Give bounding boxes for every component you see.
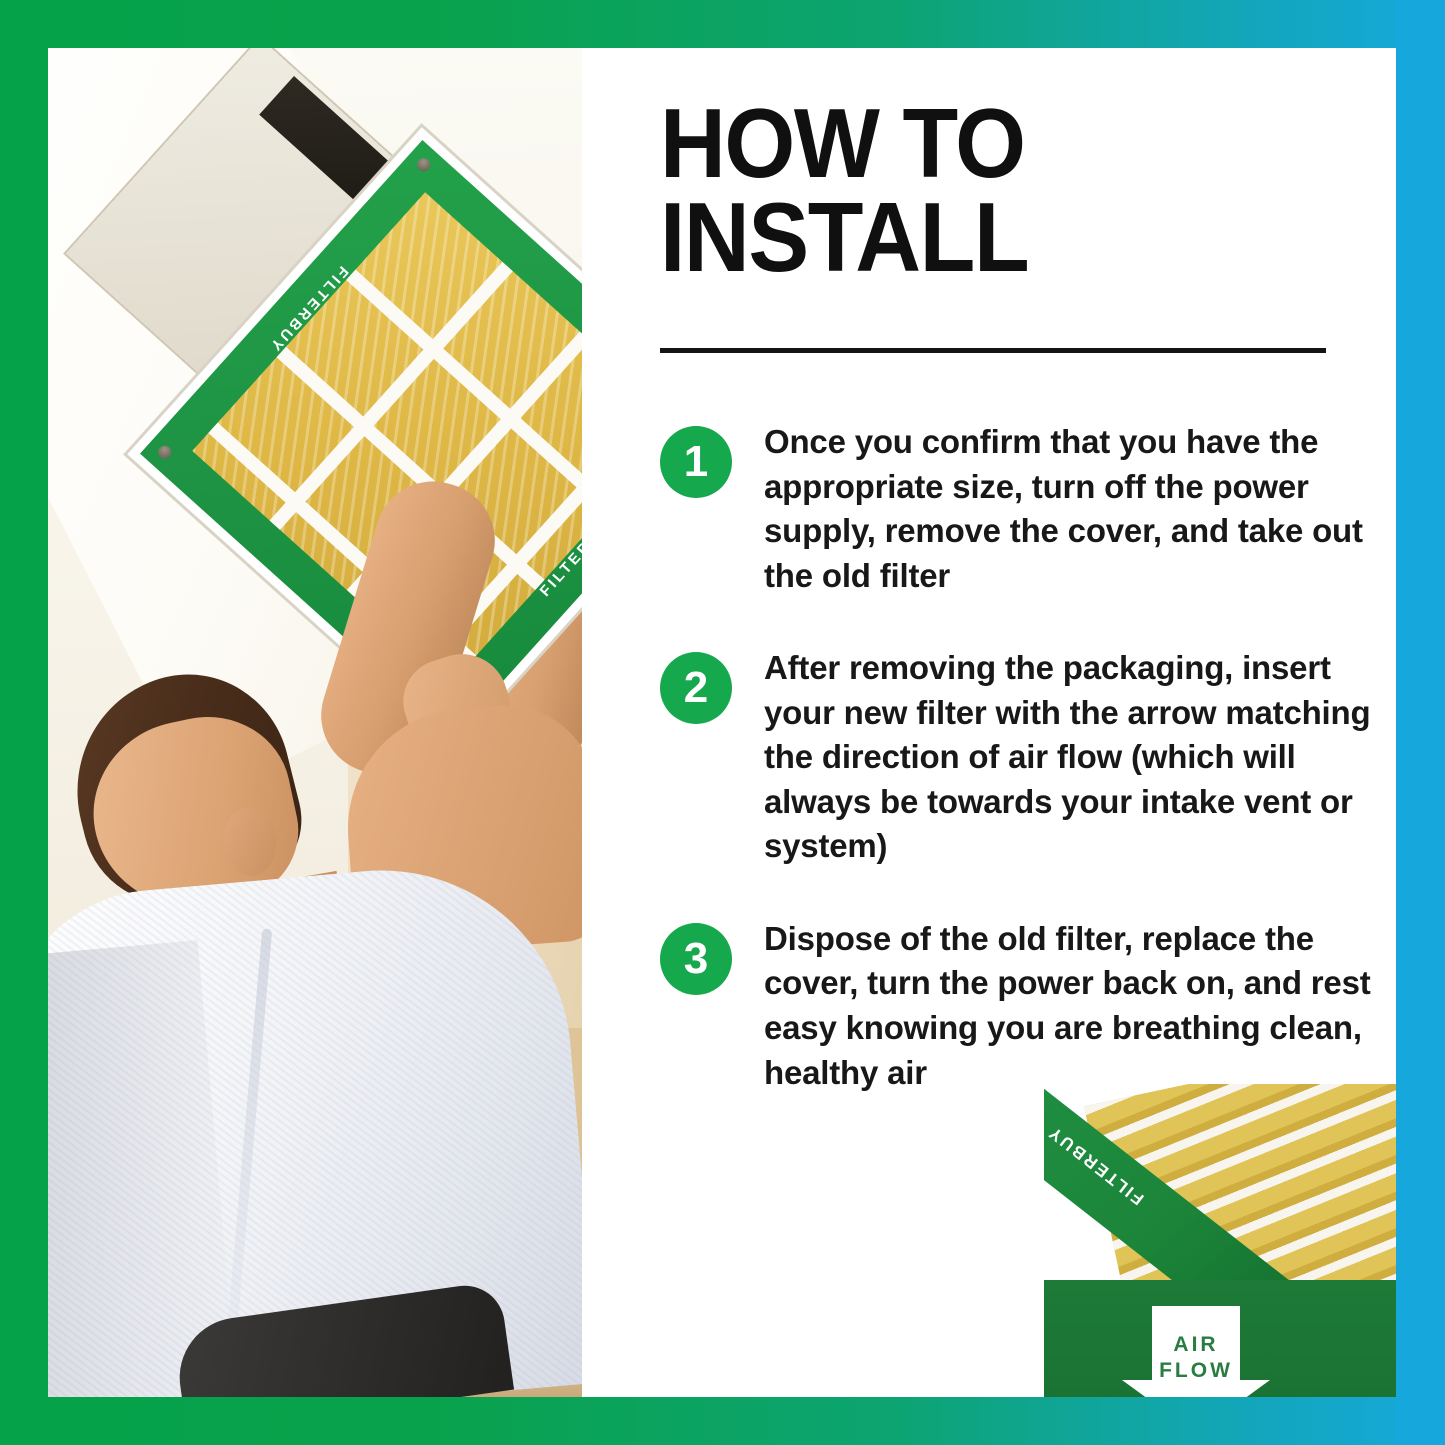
headline-line-2: INSTALL [660,190,1311,284]
content-card: FILTERBUY FILTERBUY [48,48,1396,1397]
step-badge-1: 1 [660,426,732,498]
filter-front-band: AIR FLOW [1044,1280,1396,1397]
list-item: 3 Dispose of the old filter, replace the… [660,917,1376,1095]
step-badge-3: 3 [660,923,732,995]
filter-pleats-area: FILTERBUY [1044,1084,1396,1284]
air-flow-arrow: AIR FLOW [1122,1306,1270,1397]
list-item: 1 Once you confirm that you have the app… [660,420,1376,598]
air-flow-label: AIR FLOW [1122,1332,1270,1385]
title-divider [660,348,1326,353]
product-filter-photo: FILTERBUY AIR FLOW [1044,1084,1396,1397]
steps-list: 1 Once you confirm that you have the app… [660,420,1376,1143]
instructions-column: HOW TO INSTALL 1 Once you confirm that y… [660,48,1396,1397]
infographic-root: FILTERBUY FILTERBUY [0,0,1445,1445]
air-flow-line-1: AIR [1122,1332,1270,1358]
frame-right-cyan [1396,0,1445,1445]
headline-line-1: HOW TO [660,96,1311,190]
step-text-2: After removing the packaging, insert you… [764,646,1376,869]
frame-left-green [0,0,48,1445]
install-photo: FILTERBUY FILTERBUY [48,48,582,1397]
frame-bottom-gradient [0,1397,1445,1445]
frame-top-gradient [0,0,1445,48]
page-title: HOW TO INSTALL [660,96,1311,284]
step-text-3: Dispose of the old filter, replace the c… [764,917,1376,1095]
air-flow-line-2: FLOW [1122,1358,1270,1384]
list-item: 2 After removing the packaging, insert y… [660,646,1376,869]
step-text-1: Once you confirm that you have the appro… [764,420,1376,598]
step-badge-2: 2 [660,652,732,724]
